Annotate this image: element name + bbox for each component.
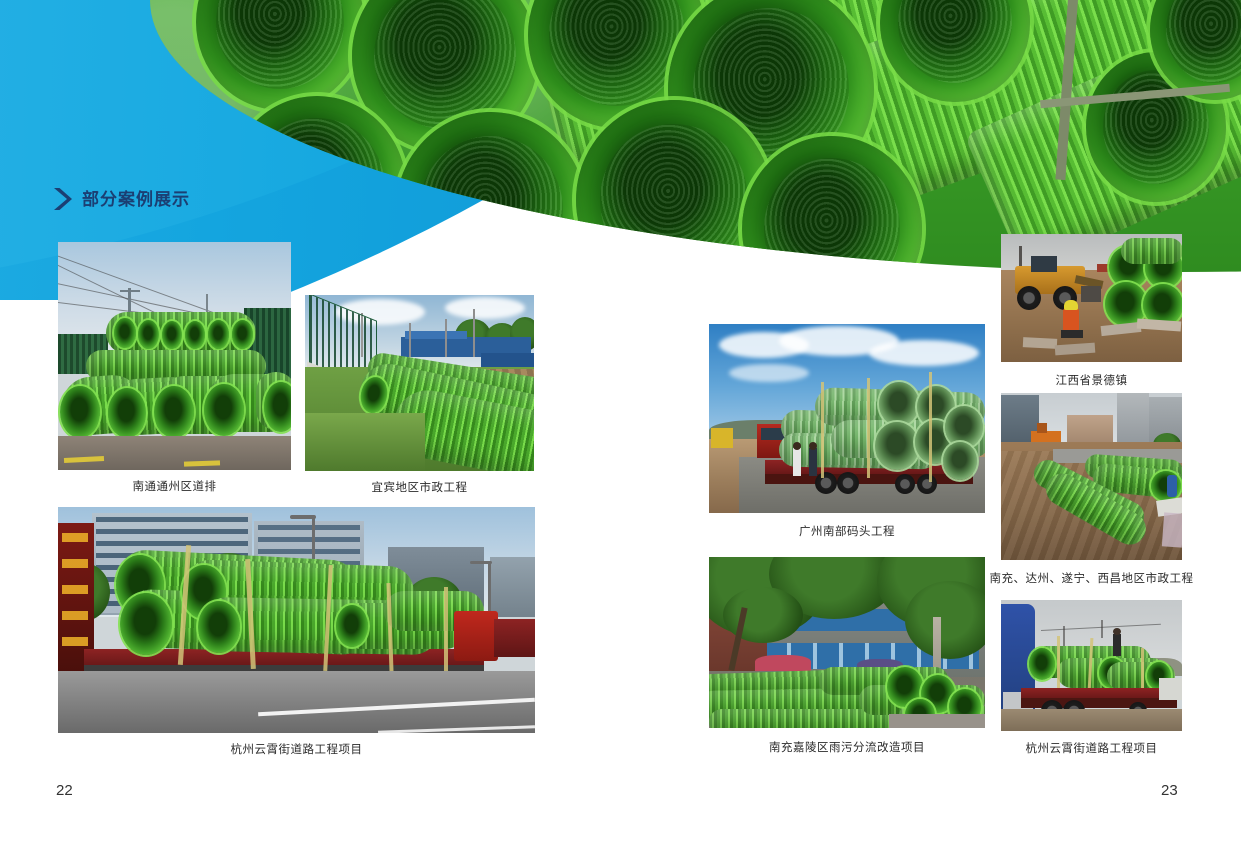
- case-caption-nanchong-jialing: 南充嘉陵区雨污分流改造项目: [709, 739, 985, 755]
- brochure-spread: 部分案例展示: [0, 0, 1241, 842]
- case-caption-yibin: 宜宾地区市政工程: [305, 479, 534, 495]
- chevron-right-icon: [52, 186, 72, 212]
- case-photo-nantong: [58, 242, 291, 470]
- case-photo-jingdezhen: [1001, 234, 1182, 362]
- case-photo-hangzhou-2: [1001, 600, 1182, 731]
- page-number-right: 23: [1161, 782, 1178, 799]
- case-photo-sichuan-cities: [1001, 393, 1182, 560]
- case-caption-sichuan-cities: 南充、达州、遂宁、西昌地区市政工程: [984, 570, 1199, 586]
- page-number-left: 22: [56, 782, 73, 799]
- case-photo-guangzhou: [709, 324, 985, 513]
- section-heading: 部分案例展示: [52, 186, 190, 212]
- case-caption-guangzhou: 广州南部码头工程: [709, 523, 985, 539]
- case-caption-hangzhou-2: 杭州云霄街道路工程项目: [1001, 740, 1182, 756]
- page-title: 部分案例展示: [82, 191, 190, 208]
- case-caption-nantong: 南通通州区道排: [58, 478, 291, 494]
- case-photo-hangzhou-1: [58, 507, 535, 733]
- case-caption-hangzhou-1: 杭州云霄街道路工程项目: [58, 741, 535, 757]
- case-photo-yibin: [305, 295, 534, 471]
- case-photo-nanchong-jialing: [709, 557, 985, 728]
- case-caption-jingdezhen: 江西省景德镇: [1001, 372, 1182, 388]
- header-pipe-photo: [0, 0, 1241, 272]
